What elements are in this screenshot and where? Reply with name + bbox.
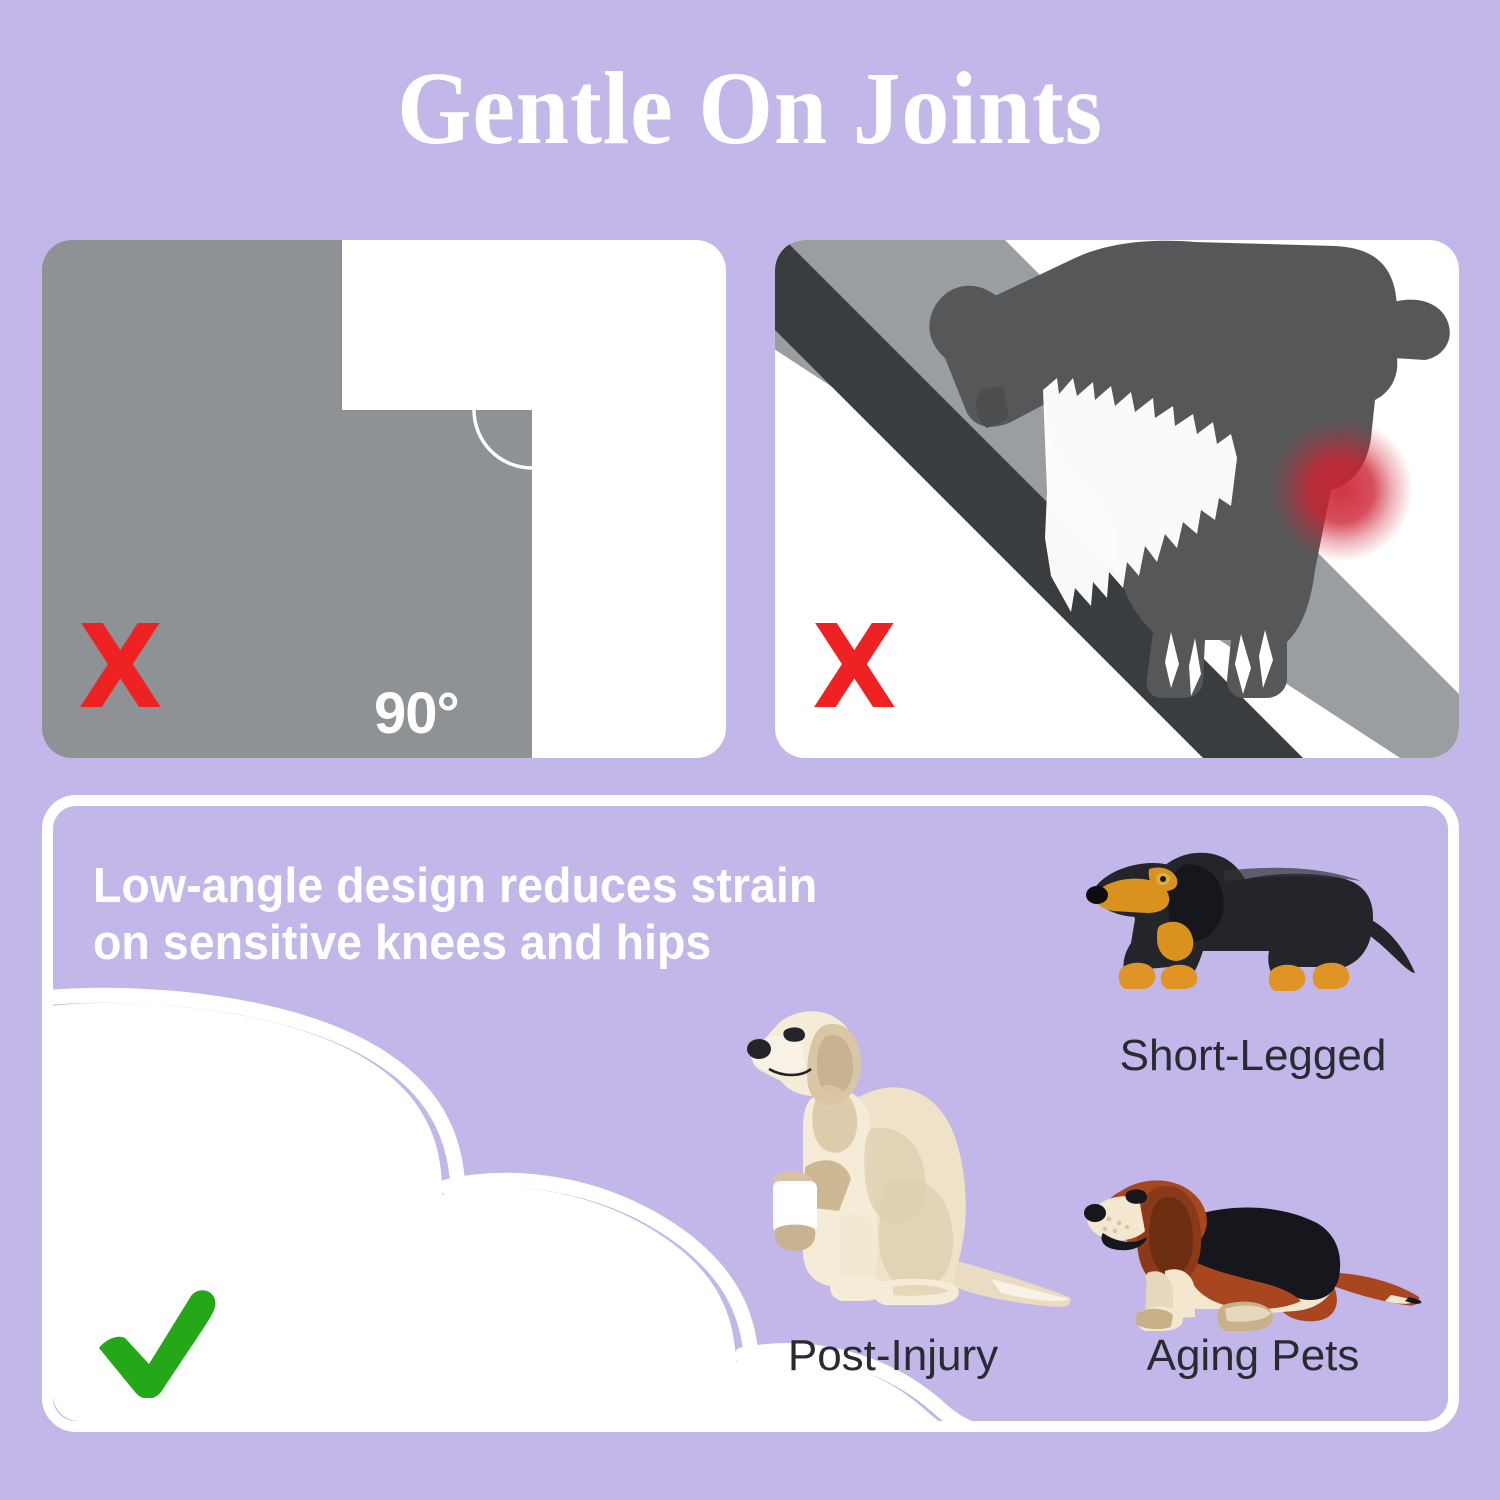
dachshund-illustration <box>1073 821 1423 1021</box>
basset-hound-illustration <box>1073 1161 1433 1341</box>
page-title: Gentle On Joints <box>60 54 1440 163</box>
benefit-text: Low-angle design reduces strain on sensi… <box>93 858 882 972</box>
dog-caption-aging-pets: Aging Pets <box>1063 1331 1443 1381</box>
x-mark-icon-ramp: X <box>812 609 897 725</box>
dog-caption-post-injury: Post-Injury <box>683 1331 1103 1381</box>
labrador-retriever-illustration <box>743 1001 1083 1331</box>
angle-label: 90° <box>374 680 459 747</box>
low-angle-stairs-panel: Low-angle design reduces strain on sensi… <box>42 795 1459 1432</box>
x-mark-icon-step: X <box>78 609 163 725</box>
dog-caption-short-legged: Short-Legged <box>1063 1031 1443 1081</box>
check-mark-icon <box>91 1286 217 1398</box>
